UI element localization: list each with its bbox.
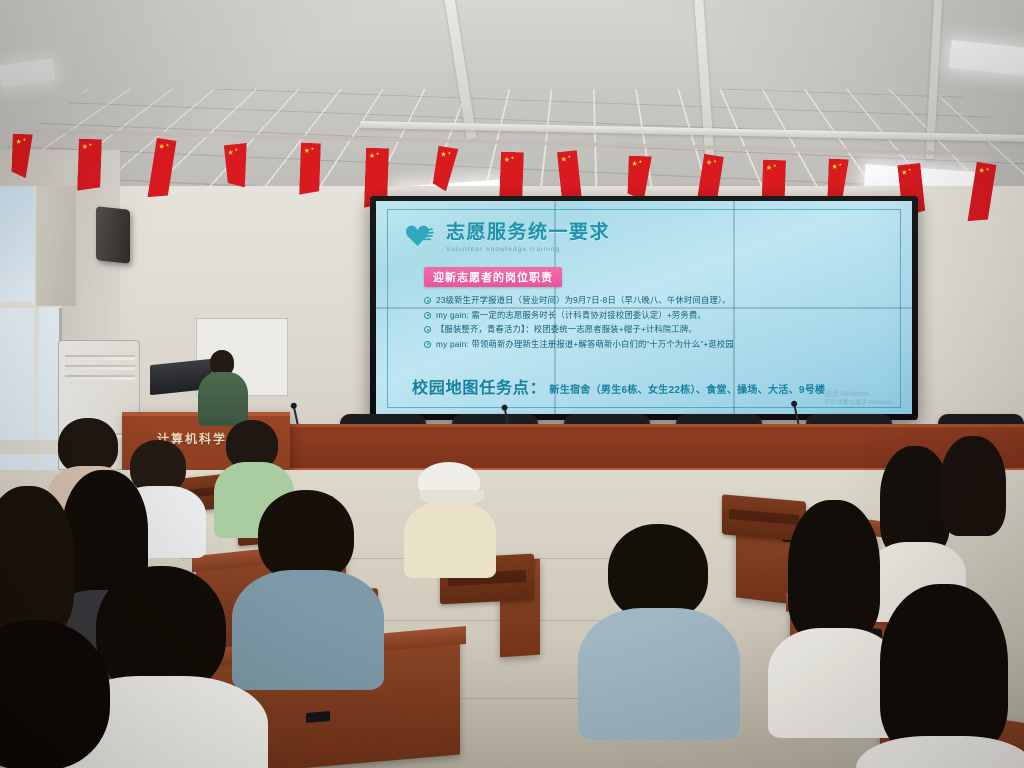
phone-on-desk-3	[306, 711, 330, 723]
flag-star-icon: ★	[81, 144, 88, 151]
video-wall-screen: 志愿服务统一要求 Volunteer knowledge training 迎新…	[370, 196, 918, 420]
slide-bullet-text: 【服装整齐，青春活力】：校团委统一志愿者服装+帽子+计科院工牌。	[436, 324, 697, 335]
flag-small-star-icon: ★	[567, 155, 571, 159]
flag-small-star-icon: ★	[165, 143, 169, 148]
photo-scene: ★★★★★★★★★★★★★★★★★★★★★★★★★★★★★★ 志愿服务统一要求 …	[0, 0, 1024, 768]
slide-canvas: 志愿服务统一要求 Volunteer knowledge training 迎新…	[376, 201, 912, 414]
slide-bullet-3: 【服装整齐，青春活力】：校团委统一志愿者服装+帽子+计科院工牌。	[424, 324, 888, 335]
watermark-line-2: 转到“设置”以激活 Windows。	[824, 399, 896, 408]
flag-small-star-icon: ★	[638, 160, 642, 164]
flag-star-icon: ★	[705, 159, 712, 167]
long-hair	[788, 500, 880, 640]
flag-small-star-icon: ★	[311, 147, 315, 151]
presenter	[196, 350, 250, 424]
flag-star-icon: ★	[303, 148, 310, 155]
chinese-flag-2: ★★	[77, 139, 102, 192]
flag-star-icon: ★	[631, 161, 638, 168]
ceiling-light-5	[0, 58, 55, 87]
body	[578, 608, 740, 740]
body	[404, 502, 496, 578]
slide-subtitle: Volunteer knowledge training	[446, 246, 610, 253]
wall-speaker	[96, 206, 130, 264]
chinese-flag-5: ★★	[299, 143, 321, 196]
body	[232, 570, 384, 690]
flag-small-star-icon: ★	[838, 163, 842, 167]
slide-title-block: 志愿服务统一要求 Volunteer knowledge training	[446, 217, 610, 253]
flag-star-icon: ★	[369, 153, 376, 160]
flag-star-icon: ★	[831, 164, 838, 171]
ac-vent-low	[65, 375, 135, 380]
head	[96, 566, 226, 694]
flag-star-icon: ★	[503, 157, 510, 164]
long-hair	[880, 584, 1008, 754]
presenter-body	[198, 372, 248, 426]
flag-small-star-icon: ★	[773, 164, 777, 168]
slide-section-banner: 迎新志愿者的岗位职责	[424, 267, 562, 287]
flag-small-star-icon: ★	[376, 152, 380, 156]
curtain	[36, 186, 76, 306]
flag-star-icon: ★	[227, 149, 234, 157]
slide-bullet-2: my gain: 需一定的志愿服务时长（计科青协对接校团委认定）+劳务费。	[424, 310, 888, 321]
flag-small-star-icon: ★	[511, 156, 515, 160]
slide-bullet-list: 23级新生开学报道日（营业时间）为9月7日-8日（早八晚八、午休时间自理）。my…	[424, 295, 888, 353]
flag-star-icon: ★	[766, 165, 773, 172]
flag-star-icon: ★	[440, 151, 447, 159]
ac-vent-top	[65, 355, 135, 360]
long-hair	[940, 436, 1006, 536]
slide-bullet-1: 23级新生开学报道日（营业时间）为9月7日-8日（早八晚八、午休时间自理）。	[424, 295, 888, 306]
flag-small-star-icon: ★	[713, 159, 717, 164]
ac-vent-mid	[65, 365, 135, 370]
slide-bullet-4: my pain: 带领萌新办理新生注册报道+解答萌新小白们的“十万个为什么”+逛…	[424, 339, 888, 350]
flag-small-star-icon: ★	[234, 148, 238, 152]
flag-small-star-icon: ★	[22, 138, 26, 142]
slide-bullet-text: my pain: 带领萌新办理新生注册报道+解答萌新小白们的“十万个为什么”+逛…	[436, 339, 734, 350]
flag-small-star-icon: ★	[447, 151, 451, 156]
slide-footer-label: 校园地图任务点：	[412, 374, 546, 398]
heart-hand-icon	[404, 221, 438, 249]
bullet-dot-icon	[424, 341, 431, 348]
bullet-dot-icon	[424, 326, 431, 333]
slide-header: 志愿服务统一要求 Volunteer knowledge training	[404, 217, 610, 253]
flag-star-icon: ★	[978, 167, 985, 175]
watermark-line-1: 激活 Windows	[824, 390, 896, 399]
head	[258, 490, 354, 582]
slide-title: 志愿服务统一要求	[446, 217, 610, 244]
flag-star-icon: ★	[560, 156, 567, 164]
windows-activation-watermark: 激活 Windows 转到“设置”以激活 Windows。	[824, 390, 896, 408]
bullet-dot-icon	[424, 297, 431, 304]
slide-footer-line: 校园地图任务点： 新生宿舍（男生6栋、女生22栋）、食堂、操场、大活、9号楼	[412, 374, 894, 398]
window-sill	[0, 440, 62, 454]
flag-star-icon: ★	[15, 139, 22, 146]
bullet-dot-icon	[424, 312, 431, 319]
long-hair	[0, 486, 74, 636]
slide-bullet-text: 23级新生开学报道日（营业时间）为9月7日-8日（早八晚八、午休时间自理）。	[436, 295, 731, 306]
flag-small-star-icon: ★	[985, 167, 989, 172]
flag-small-star-icon: ★	[908, 168, 912, 172]
slide-footer-value: 新生宿舍（男生6栋、女生22栋）、食堂、操场、大活、9号楼	[549, 381, 825, 396]
head	[608, 524, 708, 620]
slide-bullet-text: my gain: 需一定的志愿服务时长（计科青协对接校团委认定）+劳务费。	[436, 310, 706, 321]
ceiling-light-4	[949, 40, 1024, 76]
flag-star-icon: ★	[901, 169, 908, 177]
flag-star-icon: ★	[158, 143, 165, 151]
flag-small-star-icon: ★	[89, 143, 93, 147]
